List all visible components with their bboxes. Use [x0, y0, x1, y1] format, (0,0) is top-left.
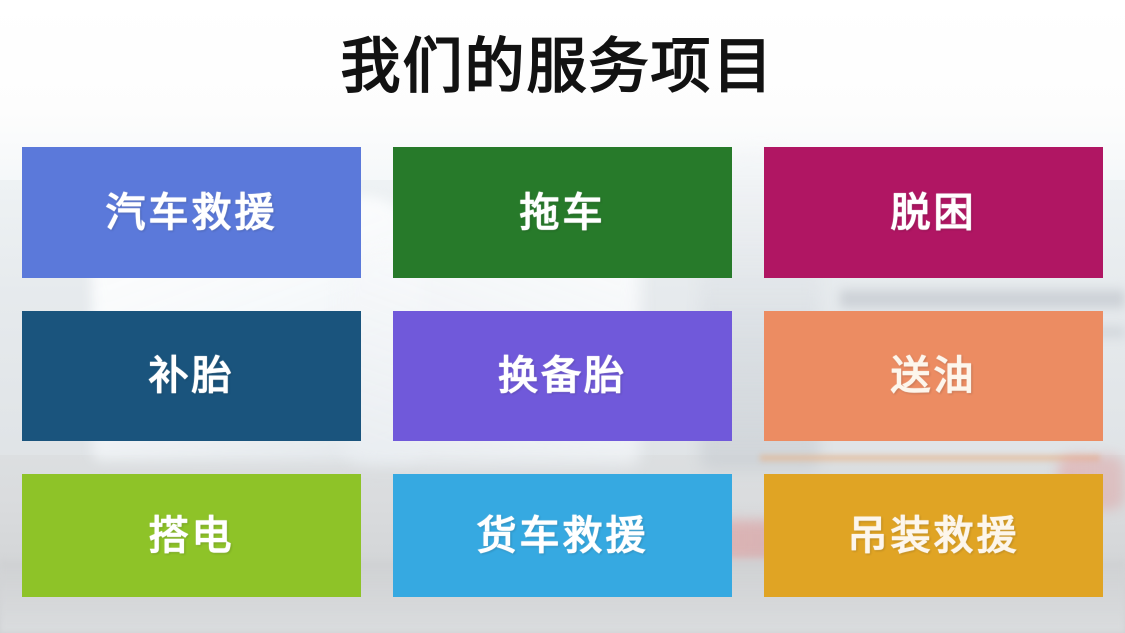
service-tile-jump-start[interactable]: 搭电: [22, 474, 361, 597]
page-title: 我们的服务项目: [341, 37, 775, 97]
service-tile-fuel-delivery[interactable]: 送油: [764, 311, 1103, 441]
service-tile-crane-rescue[interactable]: 吊装救援: [764, 474, 1103, 597]
service-tile-extrication[interactable]: 脱困: [764, 147, 1103, 278]
service-tile-grid: 汽车救援 拖车 脱困 补胎 换备胎 送油 搭电 货车救援 吊装救援: [22, 147, 1103, 597]
poster-header: 我们的服务项目: [0, 0, 1125, 128]
service-tile-tow-truck[interactable]: 拖车: [393, 147, 732, 278]
service-tile-label: 货车救援: [477, 516, 649, 556]
service-tile-label: 汽车救援: [106, 193, 278, 233]
service-tile-label: 送油: [891, 356, 977, 396]
service-tile-label: 吊装救援: [848, 516, 1020, 556]
service-tile-spare-tire-change[interactable]: 换备胎: [393, 311, 732, 441]
service-tile-label: 拖车: [520, 193, 606, 233]
service-tile-label: 换备胎: [498, 356, 627, 396]
service-tile-label: 脱困: [891, 193, 977, 233]
service-items-poster: 我们的服务项目 汽车救援 拖车 脱困 补胎 换备胎 送油 搭电 货车救援 吊装救…: [0, 0, 1125, 633]
service-tile-car-rescue[interactable]: 汽车救援: [22, 147, 361, 278]
service-tile-truck-rescue[interactable]: 货车救援: [393, 474, 732, 597]
service-tile-label: 补胎: [149, 356, 235, 396]
service-tile-tire-repair[interactable]: 补胎: [22, 311, 361, 441]
service-tile-label: 搭电: [149, 516, 235, 556]
